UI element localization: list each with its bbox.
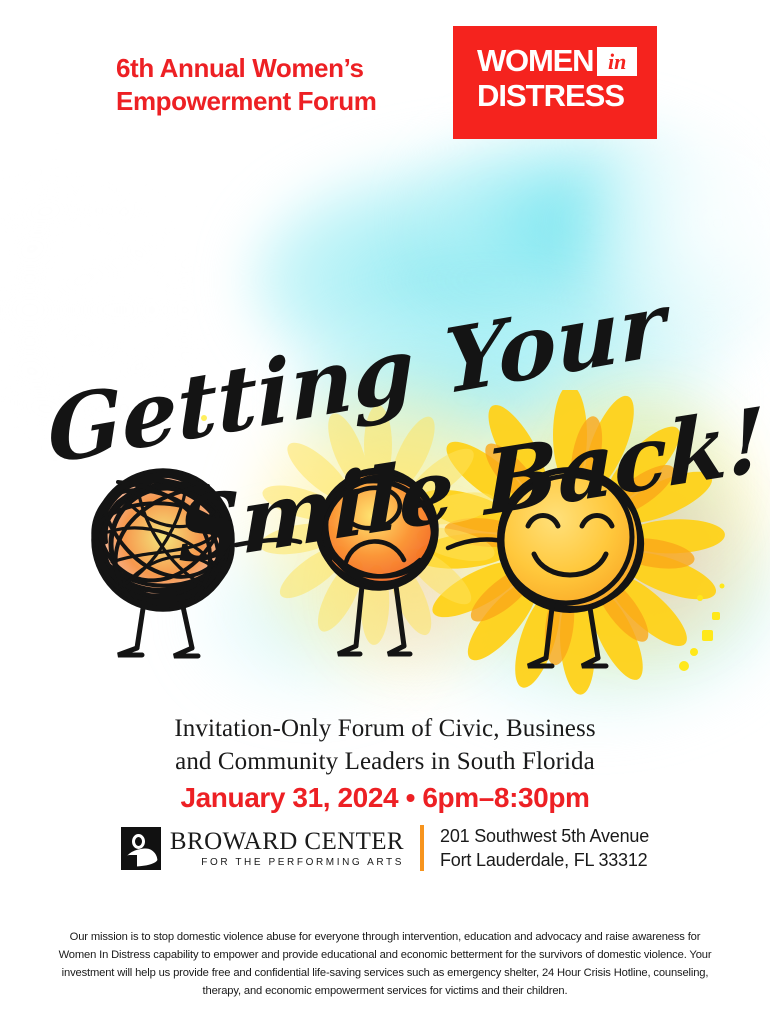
venue-divider [420, 825, 424, 871]
women-in-distress-logo: WOMEN in DISTRESS [453, 26, 657, 139]
event-details: Invitation-Only Forum of Civic, Business… [0, 712, 770, 814]
logo-word-women: WOMEN [477, 46, 593, 75]
logo-word-in: in [608, 51, 626, 73]
venue-address-line-2: Fort Lauderdale, FL 33312 [440, 848, 649, 872]
logo-in-box: in [597, 47, 637, 76]
page-title-line-2: Empowerment Forum [116, 85, 456, 118]
page-title-line-1: 6th Annual Women’s [116, 52, 456, 85]
venue-address-line-1: 201 Southwest 5th Avenue [440, 824, 649, 848]
event-subtitle-line-1: Invitation-Only Forum of Civic, Business [0, 712, 770, 745]
venue-tagline: FOR THE PERFORMING ARTS [170, 857, 404, 868]
event-subtitle: Invitation-Only Forum of Civic, Business… [0, 712, 770, 778]
event-subtitle-line-2: and Community Leaders in South Florida [0, 745, 770, 778]
logo-word-distress: DISTRESS [477, 79, 637, 113]
page-title: 6th Annual Women’s Empowerment Forum [116, 52, 456, 119]
venue-name: BROWARD CENTER [170, 829, 404, 855]
venue-address: 201 Southwest 5th Avenue Fort Lauderdale… [440, 824, 649, 873]
logo-body-notch [123, 855, 137, 870]
mission-statement: Our mission is to stop domestic violence… [50, 928, 720, 1001]
script-headline: Getting Your Smile Back! [0, 180, 770, 400]
broward-center-wordmark: BROWARD CENTER FOR THE PERFORMING ARTS [170, 829, 404, 868]
event-flyer: 6th Annual Women’s Empowerment Forum WOM… [0, 0, 770, 1024]
flyer-header: 6th Annual Women’s Empowerment Forum WOM… [0, 0, 770, 150]
broward-center-logo-icon [121, 827, 161, 870]
venue-block: BROWARD CENTER FOR THE PERFORMING ARTS 2… [0, 824, 770, 873]
event-datetime: January 31, 2024 • 6pm–8:30pm [0, 782, 770, 814]
logo-head-shape [132, 834, 145, 849]
